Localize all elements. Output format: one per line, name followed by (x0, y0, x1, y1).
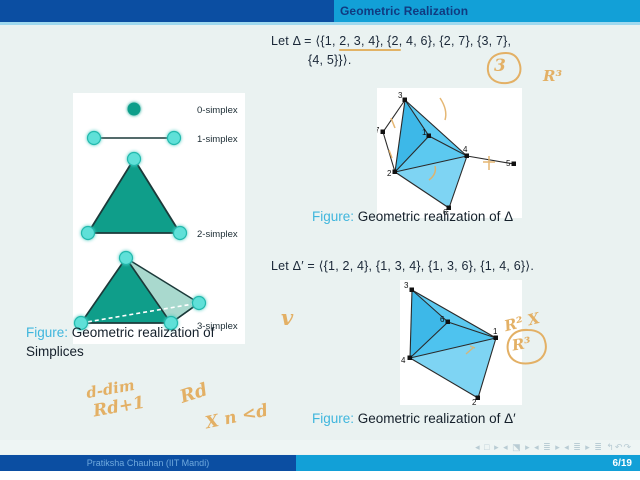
caption-deltaprime: Figure: Geometric realization of Δ′ (312, 409, 516, 428)
header-right-block: Geometric Realization (334, 0, 640, 22)
figure-delta-panel: 3 7 1 2 4 6 5 (377, 88, 522, 218)
annotation-circled-three: 3 (494, 56, 506, 76)
simplices-svg: 0-simplex 1-simplex 2-simplex 3-simplex (73, 93, 245, 344)
footer-left-block: Pratiksha Chauhan (IIT Mandi) (0, 455, 296, 471)
deltaprime-vertex-3: 3 (404, 281, 409, 290)
delta-vertex-1: 1 (422, 128, 427, 137)
annotation-r-d: Rd (177, 379, 210, 407)
math-deltaprime: Let Δ′ = ⟨{1, 2, 4}, {1, 3, 4}, {1, 3, 6… (271, 258, 534, 273)
caption-delta: Figure: Geometric realization of Δ (312, 207, 513, 226)
annotation-d-dim: d-dim (85, 376, 136, 402)
footer-page-number: 6/19 (613, 458, 632, 469)
delta-vertex-7: 7 (377, 126, 380, 135)
caption-delta-text: Geometric realization of Δ (354, 209, 513, 224)
delta-svg: 3 7 1 2 4 6 5 (377, 88, 522, 218)
slide-canvas: Let Δ = ⟨{1, 2, 3, 4}, {2, 4, 6}, {2, 7}… (0, 25, 640, 452)
simplex-1-glyph (88, 132, 181, 145)
deltaprime-svg: 3 6 4 1 2 (400, 280, 522, 405)
caption-deltaprime-text: Geometric realization of Δ′ (354, 411, 516, 426)
delta-vertex-2: 2 (387, 169, 392, 178)
footer-author: Pratiksha Chauhan (IIT Mandi) (87, 458, 209, 468)
figure-deltaprime-panel: 3 6 4 1 2 (400, 280, 522, 405)
figure-simplices-panel: 0-simplex 1-simplex 2-simplex 3-simplex (73, 93, 245, 344)
page-title: Geometric Realization (334, 4, 468, 18)
caption-simplices: Figure: Geometric realization of Simplic… (26, 323, 241, 361)
simplex-label-0: 0-simplex (197, 105, 238, 116)
delta-vertex-4: 4 (463, 145, 468, 154)
simplex-0-glyph (128, 103, 141, 116)
deltaprime-vertex-6: 6 (440, 315, 445, 324)
slide-footer-bar: Pratiksha Chauhan (IIT Mandi) 6/19 (0, 455, 640, 471)
deltaprime-vertex-4: 4 (401, 356, 406, 365)
beamer-nav-symbols[interactable]: ◂ □ ▸ ◂ ⬔ ▸ ◂ ≣ ▸ ◂ ≣ ▸ ≣ ↰↶↷ (0, 440, 640, 454)
deltaprime-vertex-1: 1 (493, 327, 498, 336)
handwritten-underline (339, 49, 401, 51)
caption-figure-word: Figure: (26, 325, 68, 340)
deltaprime-vertex-2: 2 (472, 398, 477, 405)
simplex-3-glyph (75, 252, 206, 330)
footer-right-block: 6/19 (296, 455, 640, 471)
simplex-2-glyph (82, 153, 187, 240)
slide-root: Geometric Realization Let Δ = ⟨{1, 2, 3,… (0, 0, 640, 480)
caption-figure-word: Figure: (312, 411, 354, 426)
simplex-label-2: 2-simplex (197, 229, 238, 240)
annotation-script-v: v (281, 305, 293, 330)
header-left-block (0, 0, 334, 22)
caption-figure-word: Figure: (312, 209, 354, 224)
math-delta-line1: Let Δ = ⟨{1, 2, 3, 4}, {2, 4, 6}, {2, 7}… (271, 33, 511, 48)
delta-vertex-3: 3 (398, 91, 403, 100)
simplex-label-1: 1-simplex (197, 134, 238, 145)
footer-white-strip (0, 471, 640, 480)
delta-vertex-5: 5 (506, 159, 511, 168)
annotation-r-cubed: R³ (543, 67, 562, 85)
annotation-r-d-plus-1: Rd+1 (92, 393, 147, 422)
annotation-circle-stroke (484, 49, 526, 87)
math-delta-line2: {4, 5}}⟩. (308, 52, 352, 67)
slide-header-bar: Geometric Realization (0, 0, 640, 22)
annotation-x-n-lt-d: X n <d (204, 401, 270, 434)
